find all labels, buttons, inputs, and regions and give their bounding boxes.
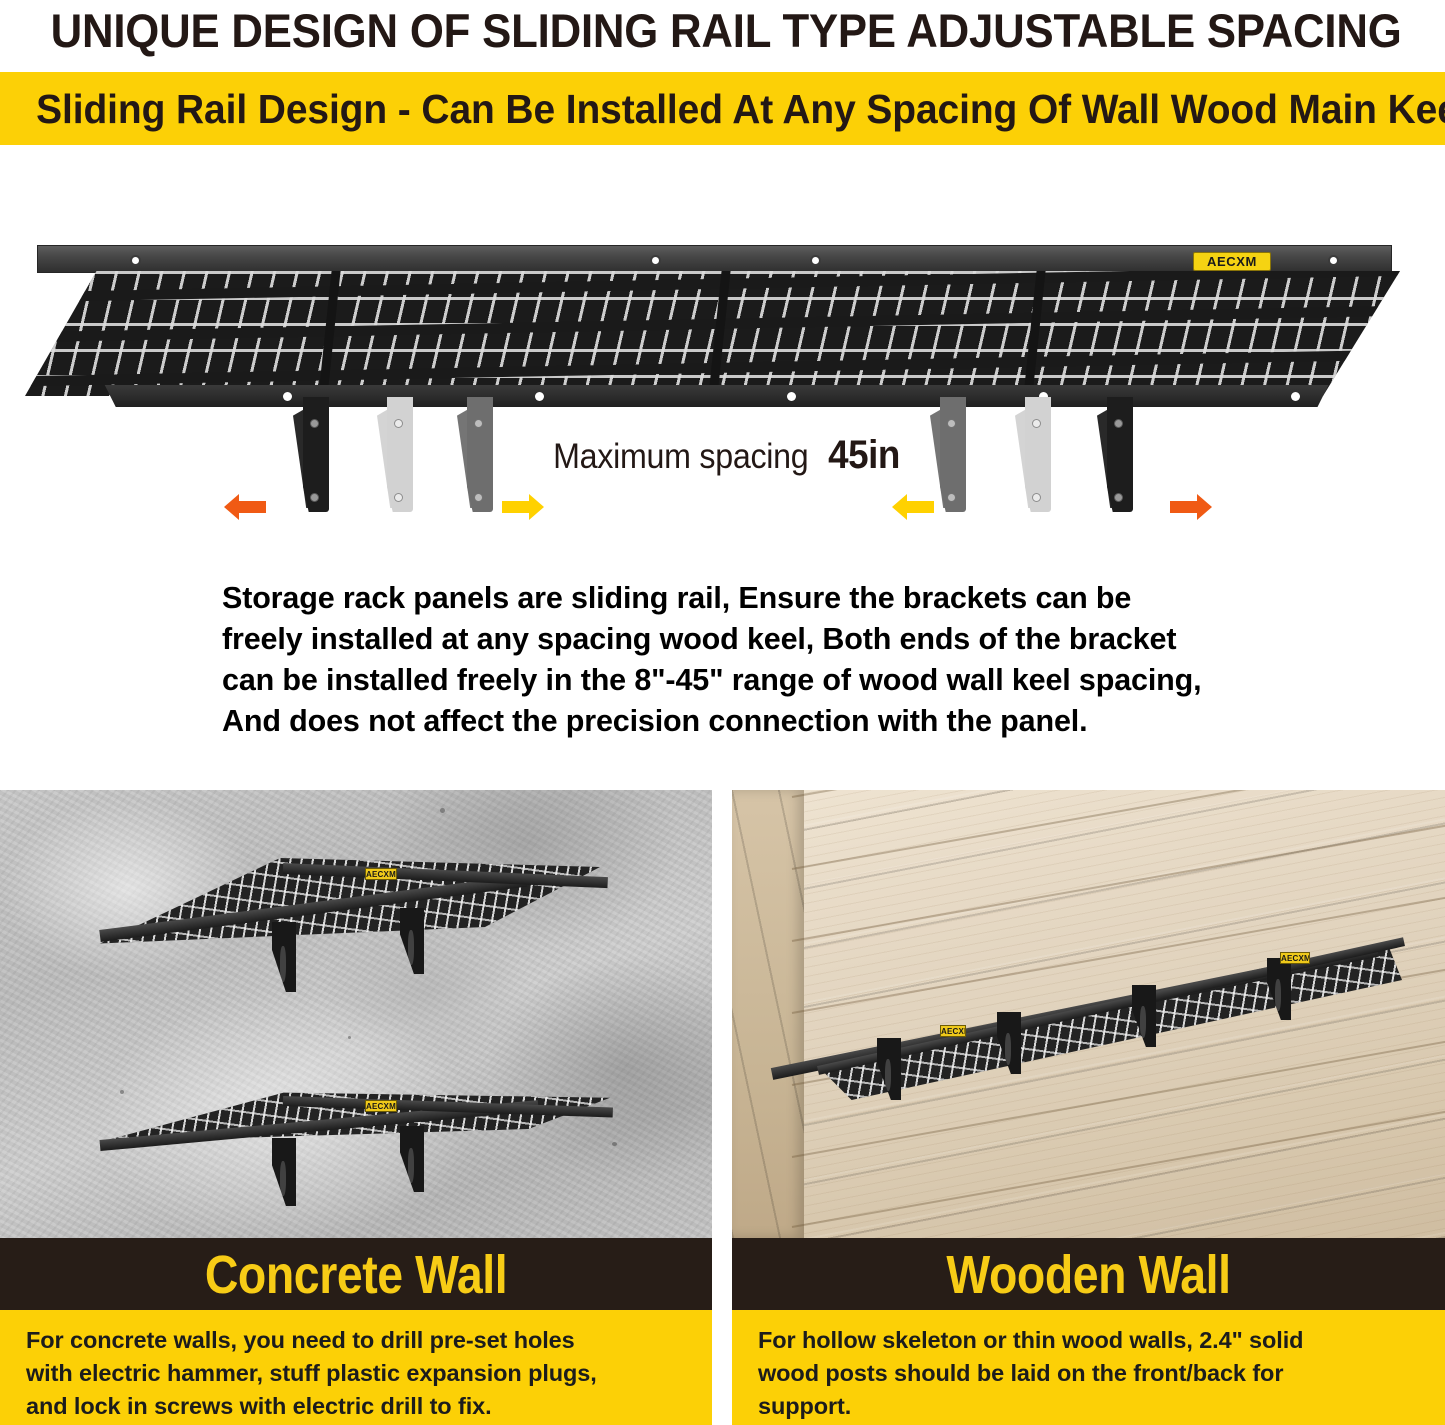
caption-line: with electric hammer, stuff plastic expa… [26,1357,686,1390]
shelf-lower-bracket-left [272,1138,296,1206]
caption-bar-concrete: Concrete Wall [0,1238,712,1310]
caption-text-wooden: For hollow skeleton or thin wood walls, … [758,1324,1419,1423]
rack-back-rail: AECXM [37,245,1392,273]
wall-speck [612,1142,617,1146]
panel-concrete-wall: AECXM AECXM Concrete Wall For concrete w… [0,790,712,1425]
bracket-bolt-icon [474,493,483,502]
rack-illustration: AECXM [0,150,1445,570]
bracket-bolt-icon [310,419,319,428]
photo-wooden-wall: AECXM AECXM [732,790,1445,1238]
arrow-left-inner-right-icon [890,488,936,526]
shelf-upper-bracket-left [272,922,296,992]
bracket-bolt-icon [1032,419,1041,428]
arrow-right-outer-icon [1168,488,1214,526]
caption-body-wooden: For hollow skeleton or thin wood walls, … [732,1310,1445,1425]
description-line: can be installed freely in the 8"-45" ra… [222,660,1262,701]
bracket-bolt-icon [1114,419,1123,428]
bracket-bolt-icon [474,419,483,428]
photo-concrete-wall: AECXM AECXM [0,790,712,1238]
bracket-bolt-icon [394,419,403,428]
mounting-hole-icon [650,255,661,266]
mounting-hole-icon [1291,392,1300,401]
caption-body-concrete: For concrete walls, you need to drill pr… [0,1310,712,1425]
shelf-long-back-edge [817,937,1405,1075]
mounting-hole-icon [1328,255,1339,266]
rack-deck [25,271,1400,396]
mounting-hole-icon [810,255,821,266]
caption-line: and lock in screws with electric drill t… [26,1390,686,1423]
caption-title-concrete: Concrete Wall [50,1238,662,1310]
aecxm-logo-badge: AECXM [365,868,397,880]
arrow-right-inner-left-icon [500,488,546,526]
mounting-hole-icon [535,392,544,401]
bracket-bolt-icon [1032,493,1041,502]
mounting-hole-icon [787,392,796,401]
caption-line: For concrete walls, you need to drill pr… [26,1324,686,1357]
caption-bar-wooden: Wooden Wall [732,1238,1445,1310]
max-spacing-label: Maximum spacing45in [0,433,1445,478]
rack-diagram: AECXM [25,245,1400,420]
shelf-lower-bracket-right [400,1126,424,1192]
description-line: freely installed at any spacing wood kee… [222,619,1262,660]
shelf-upper-bracket-right [400,908,424,974]
caption-line: support. [758,1390,1419,1423]
bracket-bolt-icon [947,493,956,502]
aecxm-logo-badge: AECXM [1280,952,1310,964]
bracket-bolt-icon [310,493,319,502]
mounting-hole-icon [130,255,141,266]
arrow-left-outer-icon [222,488,268,526]
bracket-bolt-icon [394,493,403,502]
subtitle-text: Sliding Rail Design - Can Be Installed A… [36,72,1409,145]
caption-text-concrete: For concrete walls, you need to drill pr… [26,1324,686,1423]
shelf-long: AECXM AECXM [762,940,1402,1140]
page-title: UNIQUE DESIGN OF SLIDING RAIL TYPE ADJUS… [51,0,1395,64]
aecxm-logo-badge: AECXM [940,1025,966,1037]
max-spacing-text: Maximum spacing [553,437,808,477]
caption-line: wood posts should be laid on the front/b… [758,1357,1419,1390]
rack-front-rail [25,385,1400,407]
subtitle-band: Sliding Rail Design - Can Be Installed A… [0,72,1445,145]
description-line: And does not affect the precision connec… [222,701,1262,742]
shelf-long-bracket-4 [1267,958,1291,1020]
description-line: Storage rack panels are sliding rail, En… [222,578,1262,619]
wall-speck [348,1036,351,1039]
max-spacing-value: 45in [828,433,900,478]
mounting-hole-icon [283,392,292,401]
panel-wooden-wall: AECXM AECXM Wooden Wall For hollow skele… [732,790,1445,1425]
infographic-page: UNIQUE DESIGN OF SLIDING RAIL TYPE ADJUS… [0,0,1445,1425]
aecxm-logo-badge: AECXM [365,1100,397,1112]
shelf-lower: AECXM [100,1090,610,1220]
bracket-bolt-icon [1114,493,1123,502]
caption-line: For hollow skeleton or thin wood walls, … [758,1324,1419,1357]
bracket-bolt-icon [947,419,956,428]
caption-title-wooden: Wooden Wall [782,1238,1395,1310]
description-paragraph: Storage rack panels are sliding rail, En… [222,578,1262,742]
aecxm-logo-badge: AECXM [1193,252,1271,271]
shelf-upper: AECXM [100,858,600,1008]
wall-speck [440,808,445,813]
